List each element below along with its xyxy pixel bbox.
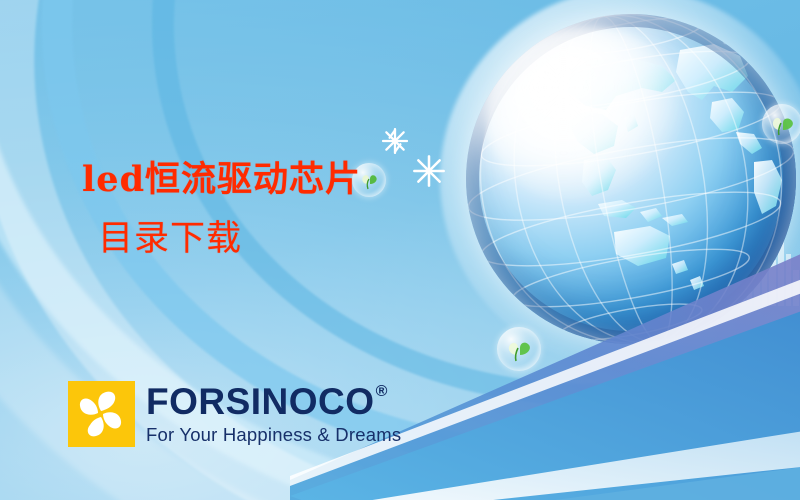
- headline-line-2: 目录下载: [98, 217, 361, 262]
- sparkle-star-icon: [413, 155, 445, 187]
- brand-tagline: For Your Happiness & Dreams: [146, 424, 401, 446]
- bubble-with-leaf-icon: [497, 327, 541, 371]
- company-logo: FORSINOCO ® For Your Happiness & Dreams: [68, 381, 401, 447]
- brand-wordmark: FORSINOCO ®: [146, 383, 401, 420]
- sparkle-star-icon: [382, 128, 408, 154]
- four-petal-pinwheel-icon: [68, 381, 135, 447]
- bubble-with-leaf-icon: [762, 104, 800, 144]
- headline-text: led恒流驱动芯片 目录下载: [82, 158, 361, 262]
- poster-canvas: led恒流驱动芯片 目录下载 FORSINOCO ® For Your Happ…: [0, 0, 800, 500]
- registered-trademark-mark: ®: [376, 384, 388, 400]
- brand-name: FORSINOCO: [146, 383, 375, 420]
- headline-line-1: led恒流驱动芯片: [82, 158, 361, 203]
- diagonal-ribbon-bands: [290, 180, 800, 500]
